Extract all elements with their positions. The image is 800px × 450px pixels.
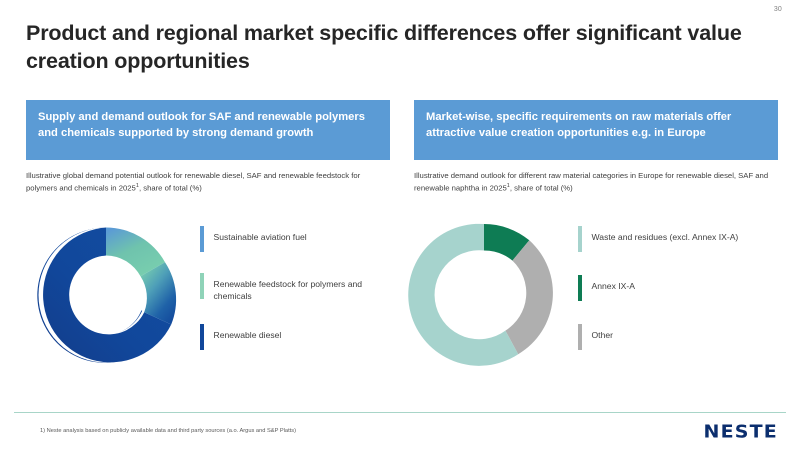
footer-divider xyxy=(14,412,786,413)
footnote: 1) Neste analysis based on publicly avai… xyxy=(40,428,296,436)
page-number: 30 xyxy=(774,6,782,13)
legend-swatch-icon xyxy=(200,324,204,350)
right-chart-legend: Waste and residues (excl. Annex IX-A) An… xyxy=(578,227,800,374)
left-chart-block: Sustainable aviation fuel Renewable feed… xyxy=(26,215,400,375)
europe-raw-material-donut xyxy=(404,215,564,375)
right-chart-block: Waste and residues (excl. Annex IX-A) An… xyxy=(404,215,800,375)
legend-item-waste-and-residues[interactable]: Waste and residues (excl. Annex IX-A) xyxy=(578,227,800,252)
legend-swatch-icon xyxy=(200,273,204,299)
global-demand-donut-svg xyxy=(26,215,186,375)
legend-label: Renewable diesel xyxy=(214,325,282,341)
left-panel: Supply and demand outlook for SAF and re… xyxy=(26,100,390,194)
legend-swatch-icon xyxy=(578,324,582,350)
right-subtitle-text-1: Illustrative demand outlook for differen… xyxy=(414,171,768,193)
legend-item-renewable-diesel[interactable]: Renewable diesel xyxy=(200,325,400,350)
legend-label: Waste and residues (excl. Annex IX-A) xyxy=(592,227,739,243)
legend-label: Other xyxy=(592,325,614,341)
legend-label: Renewable feedstock for polymers and che… xyxy=(214,274,401,303)
right-subtitle-text-2: , share of total (%) xyxy=(510,184,573,193)
legend-label: Sustainable aviation fuel xyxy=(214,227,307,243)
left-chart-legend: Sustainable aviation fuel Renewable feed… xyxy=(200,227,400,372)
legend-swatch-icon xyxy=(578,226,582,252)
right-panel-banner: Market-wise, specific requirements on ra… xyxy=(414,100,778,160)
legend-swatch-icon xyxy=(578,275,582,301)
right-panel: Market-wise, specific requirements on ra… xyxy=(414,100,778,194)
legend-swatch-icon xyxy=(200,226,204,252)
global-demand-donut xyxy=(26,215,186,375)
europe-raw-material-donut-svg xyxy=(404,215,564,375)
left-subtitle-text-2: , share of total (%) xyxy=(139,184,202,193)
legend-item-other[interactable]: Other xyxy=(578,325,800,350)
legend-item-renewable-feedstock[interactable]: Renewable feedstock for polymers and che… xyxy=(200,274,400,303)
legend-item-annex-ix-a[interactable]: Annex IX-A xyxy=(578,276,800,301)
right-panel-subtitle: Illustrative demand outlook for differen… xyxy=(414,170,778,194)
legend-item-sustainable-aviation-fuel[interactable]: Sustainable aviation fuel xyxy=(200,227,400,252)
left-panel-subtitle: Illustrative global demand potential out… xyxy=(26,170,390,194)
slide-canvas: 30 Product and regional market specific … xyxy=(0,0,800,450)
global-donut-segments xyxy=(38,228,176,363)
legend-label: Annex IX-A xyxy=(592,276,635,292)
left-panel-banner: Supply and demand outlook for SAF and re… xyxy=(26,100,390,160)
page-title: Product and regional market specific dif… xyxy=(26,20,746,76)
neste-logo: NESTE xyxy=(703,422,778,442)
